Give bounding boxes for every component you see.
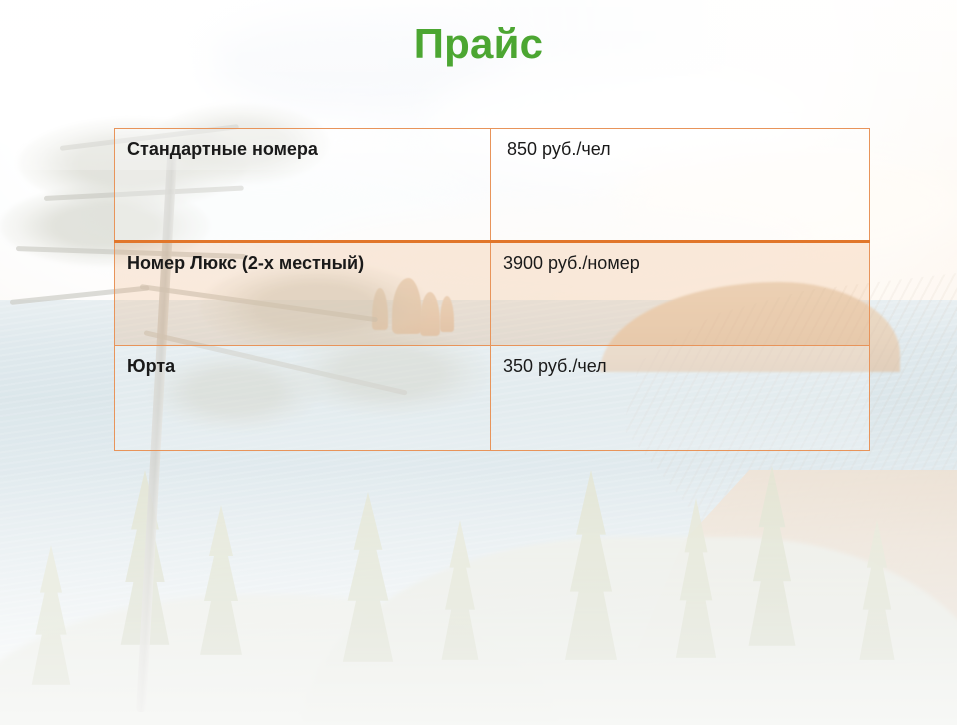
page-title: Прайс — [0, 20, 957, 68]
table-row: Юрта 350 руб./чел — [115, 346, 870, 451]
room-type-cell: Стандартные номера — [115, 129, 491, 242]
room-price-cell: 850 руб./чел — [491, 129, 870, 242]
room-type-cell: Юрта — [115, 346, 491, 451]
room-type-cell: Номер Люкс (2-х местный) — [115, 242, 491, 346]
table-row: Номер Люкс (2-х местный) 3900 руб./номер — [115, 242, 870, 346]
room-price-cell: 3900 руб./номер — [491, 242, 870, 346]
price-table: Стандартные номера 850 руб./чел Номер Лю… — [114, 128, 870, 451]
slide: Прайс Стандартные номера 850 руб./чел Но… — [0, 0, 957, 725]
table-row: Стандартные номера 850 руб./чел — [115, 129, 870, 242]
room-price-cell: 350 руб./чел — [491, 346, 870, 451]
